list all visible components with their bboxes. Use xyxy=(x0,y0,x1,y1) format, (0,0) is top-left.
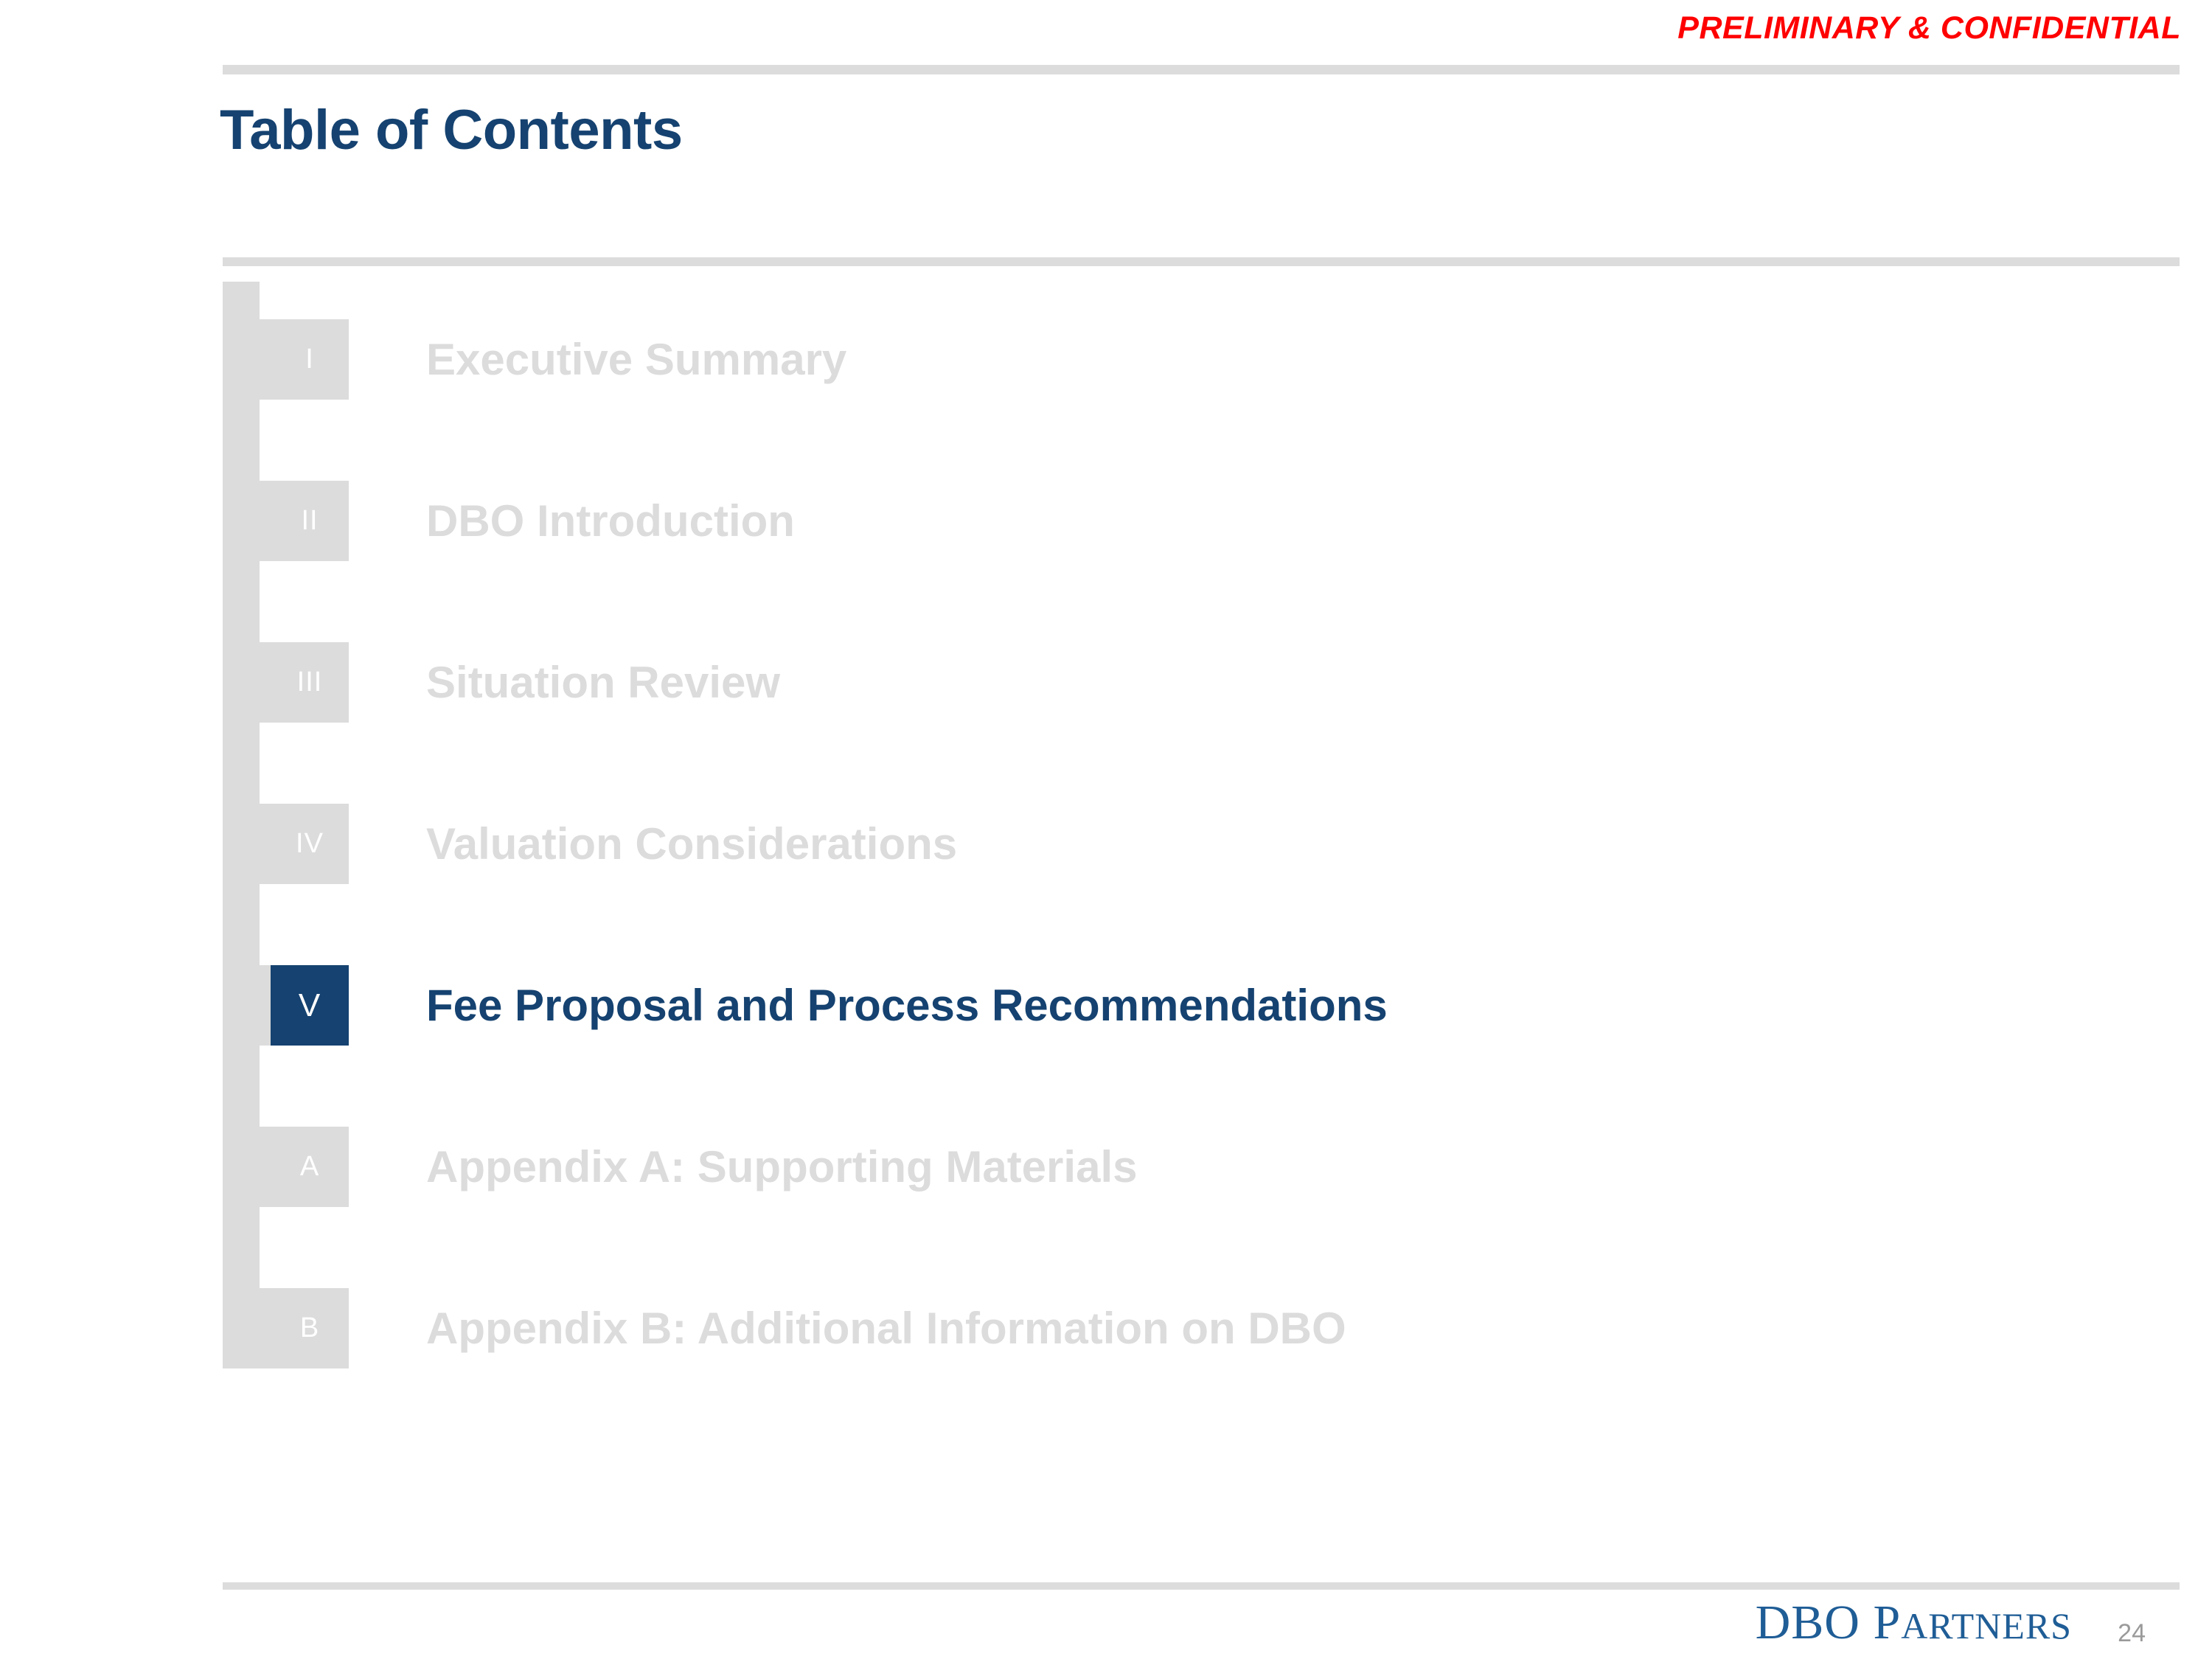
toc-item-2[interactable]: IIDBO Introduction xyxy=(223,481,2180,561)
header-divider-bottom xyxy=(223,257,2180,266)
toc-item-5[interactable]: VFee Proposal and Process Recommendation… xyxy=(223,965,2180,1046)
toc-connector xyxy=(223,965,271,1046)
toc-marker-badge[interactable]: II xyxy=(271,481,349,561)
page-number: 24 xyxy=(2118,1619,2146,1648)
toc-item-4[interactable]: IVValuation Considerations xyxy=(223,804,2180,884)
toc-marker-badge[interactable]: A xyxy=(271,1127,349,1207)
toc-marker-badge[interactable]: IV xyxy=(271,804,349,884)
header-divider-top xyxy=(223,65,2180,74)
toc-marker-badge[interactable]: III xyxy=(271,642,349,723)
toc-item-label[interactable]: Fee Proposal and Process Recommendations xyxy=(426,965,1388,1046)
toc-item-label[interactable]: Appendix A: Supporting Materials xyxy=(426,1127,1137,1207)
footer-divider xyxy=(223,1582,2180,1590)
toc-item-label[interactable]: Situation Review xyxy=(426,642,780,723)
toc-marker-badge[interactable]: B xyxy=(271,1288,349,1368)
logo-partners-rest: ARTNERS xyxy=(1901,1605,2072,1646)
toc-marker-badge[interactable]: I xyxy=(271,319,349,400)
dbo-partners-logo: DBO PARTNERS xyxy=(1756,1599,2072,1647)
toc-item-7[interactable]: BAppendix B: Additional Information on D… xyxy=(223,1288,2180,1368)
logo-dbo-text: DBO xyxy=(1756,1596,1860,1649)
confidential-notice: PRELIMINARY & CONFIDENTIAL xyxy=(1677,10,2181,46)
toc-item-3[interactable]: IIISituation Review xyxy=(223,642,2180,723)
table-of-contents: IExecutive SummaryIIDBO IntroductionIIIS… xyxy=(223,282,2180,1363)
toc-marker-badge[interactable]: V xyxy=(271,965,349,1046)
toc-item-1[interactable]: IExecutive Summary xyxy=(223,319,2180,400)
toc-item-label[interactable]: Executive Summary xyxy=(426,319,846,400)
toc-item-label[interactable]: Appendix B: Additional Information on DB… xyxy=(426,1288,1346,1368)
toc-item-6[interactable]: AAppendix A: Supporting Materials xyxy=(223,1127,2180,1207)
logo-partners-initial: P xyxy=(1873,1596,1901,1649)
toc-item-label[interactable]: Valuation Considerations xyxy=(426,804,957,884)
toc-item-label[interactable]: DBO Introduction xyxy=(426,481,795,561)
page-title: Table of Contents xyxy=(220,98,683,162)
logo-partners-text: PARTNERS xyxy=(1860,1596,2072,1649)
